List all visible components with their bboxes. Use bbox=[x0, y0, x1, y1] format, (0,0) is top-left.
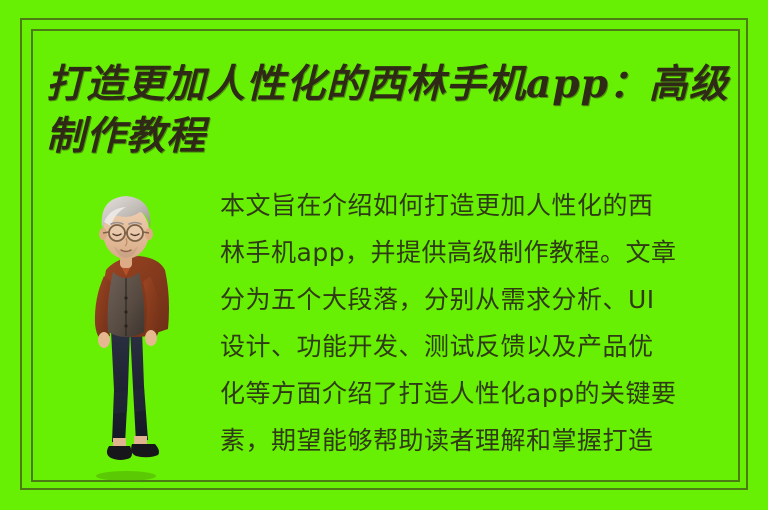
body-line: 林手机app，并提供高级制作教程。文章 bbox=[220, 229, 738, 276]
body-line: 化等方面介绍了打造人性化app的关键要 bbox=[220, 370, 738, 417]
poster-title: 打造更加人性化的西林手机app：高级制作教程 bbox=[46, 58, 736, 162]
poster-body-text: 本文旨在介绍如何打造更加人性化的西 林手机app，并提供高级制作教程。文章 分为… bbox=[220, 182, 738, 464]
body-line: 素，期望能够帮助读者理解和掌握打造 bbox=[220, 417, 738, 464]
poster-canvas: 打造更加人性化的西林手机app：高级制作教程 bbox=[0, 0, 768, 510]
body-line: 分为五个大段落，分别从需求分析、UI bbox=[220, 276, 738, 323]
body-line: 设计、功能开发、测试反馈以及产品优 bbox=[220, 323, 738, 370]
body-line: 本文旨在介绍如何打造更加人性化的西 bbox=[220, 182, 738, 229]
cartoon-man-illustration bbox=[78, 180, 174, 482]
